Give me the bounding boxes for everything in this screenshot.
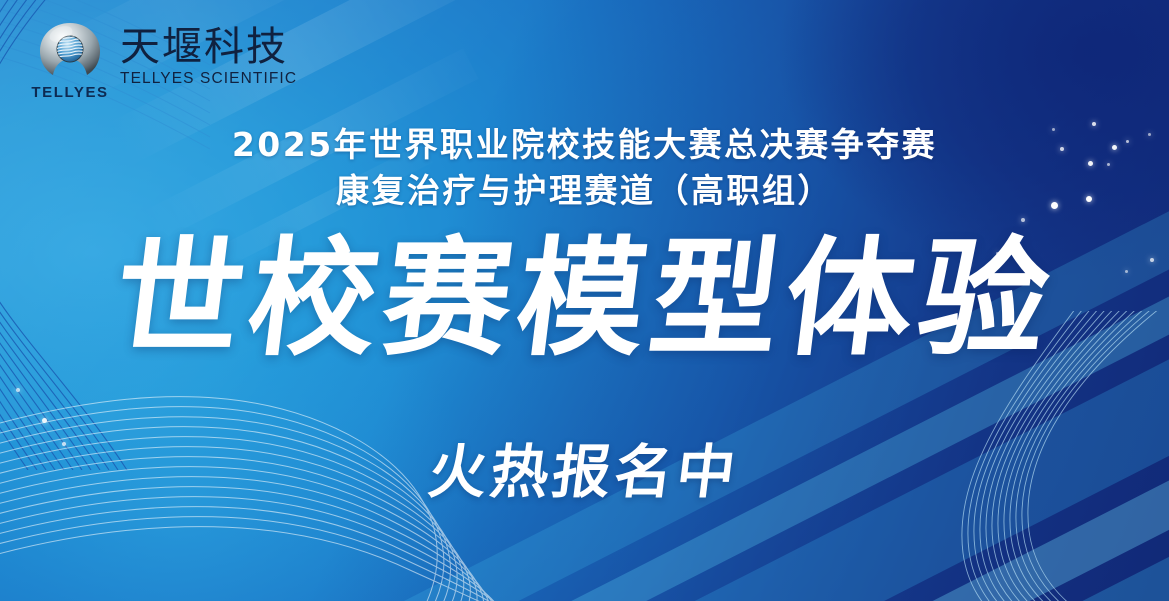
logo-mark: TELLYES bbox=[34, 22, 106, 101]
brand-wordmark: 天堰科技 TELLYES SCIENTIFIC bbox=[120, 22, 297, 88]
brand-logo[interactable]: TELLYES 天堰科技 TELLYES SCIENTIFIC bbox=[34, 22, 297, 101]
logo-mark-label: TELLYES bbox=[31, 84, 108, 101]
tellyes-sphere-icon bbox=[37, 22, 103, 82]
brand-name-cn: 天堰科技 bbox=[120, 26, 297, 68]
brand-name-en: TELLYES SCIENTIFIC bbox=[120, 70, 297, 88]
background-topright-shadow bbox=[609, 0, 1169, 380]
promo-banner: TELLYES 天堰科技 TELLYES SCIENTIFIC 2025年世界职… bbox=[0, 0, 1169, 601]
